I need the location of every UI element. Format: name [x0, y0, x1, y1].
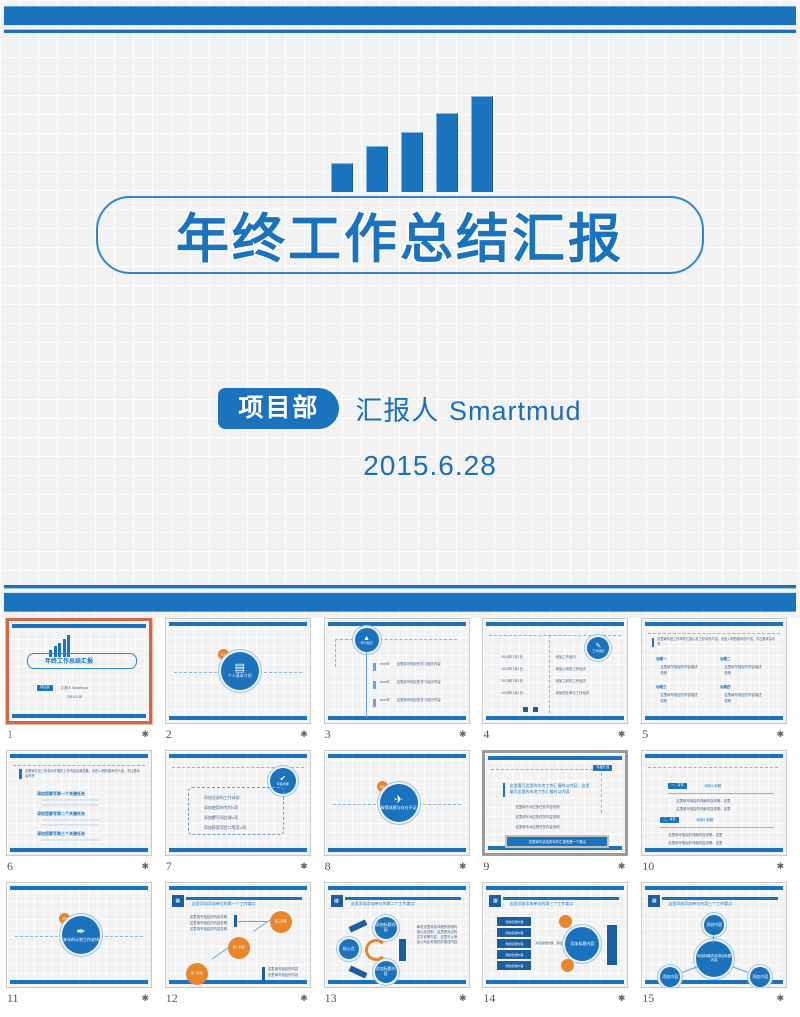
hero-bar-2 — [366, 146, 388, 192]
slide-6-intro-marker — [19, 769, 22, 779]
slide-15-link-top — [713, 935, 714, 943]
slide-thumbnail-11[interactable]: 03 ✒ 来年的计划工作安排 — [6, 882, 152, 988]
slide-thumbnail-15[interactable]: ▦ 这里添加添加单位的第三个工作要点 添加内容 添加标题内容添加标题内容 添加内… — [641, 882, 787, 988]
slide-4-dashline — [489, 635, 621, 636]
timeline-tick-1 — [373, 663, 376, 671]
slide-star-icon[interactable]: ✱ — [141, 730, 149, 739]
hero-top-band — [4, 6, 796, 26]
slide-12-note-4: 这里填写相应的内容 — [268, 967, 299, 972]
slide-number-10: 10 — [642, 859, 654, 874]
slide-4-date-4: 2015年7月1日 — [501, 691, 523, 696]
slide-star-icon[interactable]: ✱ — [459, 862, 467, 871]
slide-star-icon[interactable]: ✱ — [618, 730, 626, 739]
slide-11-circle-label: 来年的计划工作安排 — [63, 938, 99, 943]
thumbnail-cell-14[interactable]: ▦ 这里添加添加单位的第三个工作要点 添加标题内容 添加标题内容 添加标题内容 … — [482, 882, 641, 1006]
slide-bottom-band — [328, 980, 466, 984]
slide-star-icon[interactable]: ✱ — [459, 994, 467, 1003]
presentation-date: 2015.6.28 — [0, 450, 800, 482]
slide-top-band — [488, 756, 622, 760]
slide-9-badge: 年度计划 — [593, 765, 612, 771]
slide-10-line-2a: 这里填写相应的详细内容说明，这里 — [668, 833, 722, 838]
thumbnail-cell-1[interactable]: 年终工作总结汇报 项目部 汇报人 Smartmud 2015.6.28 1 ✱ — [6, 618, 165, 742]
hero-slide[interactable]: 年终工作总结汇报 项目部 汇报人 Smartmud 2015.6.28 — [0, 0, 800, 618]
slide-13-tag-3 — [399, 939, 406, 961]
slide-5-line-2a: 这里填写相应的内容描述 — [724, 665, 761, 670]
slide-5-dashline — [648, 633, 780, 634]
slide-4-text-4: 添加现在单位工作经历 — [555, 691, 589, 696]
slide-14-left-item-1: 添加标题内容 — [497, 917, 531, 926]
slide-8-section-circle: ✈ 取得成绩与存在不足 — [380, 784, 418, 822]
slide-6-sub-2a — [41, 819, 99, 821]
slide-star-icon[interactable]: ✱ — [777, 862, 785, 871]
slide-5-heading-3: 标题三 — [656, 685, 666, 690]
slide-3-text-3: 这里填写相应的学习经历内容 — [397, 698, 441, 703]
slide-thumbnail-7[interactable]: ✔ 年度成果 添加业务的工作体验 添加使用的专利×项 添加撰写同比课×项 添加获… — [165, 750, 311, 856]
slide-15-link-left — [682, 966, 697, 972]
slide-10-line-1b: 这里填写相应的详细内容说明，这里 — [676, 807, 730, 812]
timeline-tick-3 — [373, 699, 376, 707]
slide-3-section-circle: ▲ 学习经历 — [355, 628, 379, 652]
slide-top-band — [328, 886, 466, 890]
slide-12-note-2: 这里填写相应的内容说明 — [190, 921, 227, 926]
slide-13-paragraph: 单击这里添加详细的说明内容以及说明，这里是对应的文字说明内容，这里可以添加公司业… — [417, 925, 461, 945]
hero-bar-3 — [401, 132, 423, 192]
slide-bottom-band — [645, 716, 783, 720]
slide-4-text-1: 添加工作经历 — [555, 655, 575, 660]
slide-12-header: 这里添加添加单位的第一个工作要点 — [192, 901, 256, 907]
slide-6-bullet-3: 添加您要写第三个关键任务 — [37, 831, 85, 837]
slide-14-header-badge: ▦ — [489, 895, 501, 907]
slide-thumbnail-4[interactable]: ✎ 工作经历 2010年7月1日 添加工作经历 2012年7月1日 添加公司的工… — [482, 618, 628, 724]
slide-12-connector-3 — [211, 947, 228, 959]
slide-4-dashline-v — [549, 635, 550, 713]
slide-top-band — [645, 754, 783, 758]
slide-15-header-badge: ▦ — [648, 895, 660, 907]
slide-number-11: 11 — [7, 991, 19, 1006]
slide-number-5: 5 — [642, 727, 648, 742]
slide-star-icon[interactable]: ✱ — [777, 994, 785, 1003]
slide-bottom-band — [169, 716, 307, 720]
slide-9-bullet-3: 这里填写对应的任务内容说明 — [515, 825, 559, 830]
slide-5-heading-2: 标题二 — [720, 657, 730, 662]
slide-6-intro: 这里填写这三年实际开展的工作内容及其成果，也是入职的基本的介绍，不过基本会写完 — [25, 769, 141, 779]
slide-3-year-2: xxxx年 — [380, 680, 390, 685]
slide-star-icon[interactable]: ✱ — [141, 862, 149, 871]
slide-4-circle-label: 工作经历 — [592, 650, 604, 653]
timeline-axis — [366, 652, 367, 718]
slide-15-spoke-top: 添加内容 — [704, 915, 724, 935]
thumbnail-meta-11: 11 ✱ — [6, 988, 152, 1006]
slide-number-7: 7 — [166, 859, 172, 874]
slide-thumbnail-14[interactable]: ▦ 这里添加添加单位的第三个工作要点 添加标题内容 添加标题内容 添加标题内容 … — [482, 882, 628, 988]
slide-4-date-3: 2013年7月1日 — [501, 679, 523, 684]
thumbnail-cell-10[interactable]: 一、存在 添加小标题 这里填写相应的详细内容说明，这里 这里填写相应的详细内容说… — [641, 750, 800, 874]
slide-14-left-item-2: 添加标题内容 — [497, 928, 531, 937]
slide-10-heading-2: 添加小标题 — [696, 818, 713, 823]
thumbnail-row-2: 这里填写这三年实际开展的工作内容及其成果，也是入职的基本的介绍，不过基本会写完 … — [0, 750, 800, 874]
page-title: 年终工作总结汇报 — [0, 196, 800, 274]
slide-9-bullet-2: 这里填写对应的任务内容说明 — [515, 815, 559, 820]
slide-4-date-2: 2012年7月1日 — [501, 667, 523, 672]
thumbnail-meta-4: 4 ✱ — [482, 724, 628, 742]
slide-number-6: 6 — [7, 859, 13, 874]
slide-top-band — [645, 886, 783, 890]
slide-thumbnail-9[interactable]: 年度计划 这里填写这里的年终工作汇报的以内容，这里填写这里的年终工作汇报的以内容… — [482, 750, 628, 856]
slide-3-year-3: xxxx年 — [380, 698, 390, 703]
slide-13-header-badge: ▦ — [331, 895, 343, 907]
slide-3-circle-label: 学习经历 — [361, 642, 373, 645]
hero-bottom-band — [4, 592, 796, 612]
cycle-arrow-icon — [365, 939, 387, 961]
presenter-label: 汇报人 — [355, 396, 439, 427]
slide-13-header: 这里添加添加单位的第二个工作要点 — [351, 901, 415, 907]
slide-bottom-band — [486, 716, 624, 720]
slide-star-icon[interactable]: ✱ — [618, 862, 626, 871]
slide-15-header: 这里添加添加单位的第三个工作要点 — [668, 901, 732, 907]
slide-9-dashline-v — [601, 773, 602, 813]
slide-14-left-item-4: 添加标题内容 — [497, 950, 531, 959]
slide-5-line-4b: 说明 — [724, 699, 731, 704]
slide-6-sub-2b — [41, 824, 99, 826]
slide-5-line-1a: 这里填写相应的内容描述 — [660, 665, 697, 670]
hero-bar-4 — [436, 113, 458, 192]
slide-bottom-band — [328, 716, 466, 720]
slide-15-spoke-left: 添加内容 — [660, 967, 680, 987]
slide-5-line-1b: 说明 — [660, 671, 667, 676]
slide-star-icon[interactable]: ✱ — [300, 730, 308, 739]
slide-number-4: 4 — [483, 727, 489, 742]
slide-bottom-band — [488, 846, 622, 850]
thumbnail-cell-2[interactable]: 01 ▤ 个人基本介绍 2 ✱ — [165, 618, 324, 742]
slide-top-band — [10, 886, 148, 890]
slide-top-band — [645, 622, 783, 626]
slide-top-band — [486, 622, 624, 626]
thumbnail-meta-3: 3 ✱ — [324, 724, 470, 742]
slide-thumbnail-12[interactable]: ▦ 这里添加添加单位的第一个工作要点 这里填写相应的内容说明 这里填写相应的内容… — [165, 882, 311, 988]
slide-7-item-1: 添加业务的工作体验 — [204, 795, 240, 801]
slide-bottom-band — [486, 980, 624, 984]
thumbnail-meta-2: 2 ✱ — [165, 724, 311, 742]
slide-number-13: 13 — [325, 991, 337, 1006]
slide-top-band — [12, 624, 146, 628]
slide-9-dashline — [491, 769, 603, 770]
department-badge: 项目部 — [218, 388, 339, 429]
slide-12-node-2: 第二阶段 — [228, 937, 250, 959]
slide-5-intro: 这里填写进工作年终汇报以及工作情况介绍，也是入职的基本的介绍，不过基本会写完 — [657, 637, 777, 647]
hero-bar-1 — [331, 163, 353, 192]
thumbnail-cell-15[interactable]: ▦ 这里添加添加单位的第三个工作要点 添加内容 添加标题内容添加标题内容 添加内… — [641, 882, 800, 1006]
slide-10-line-2b: 这里填写相应的详细内容说明，这里 — [668, 841, 722, 846]
slide-2-section-circle: ▤ 个人基本介绍 — [221, 652, 259, 690]
slide-10-underline-1 — [668, 793, 774, 794]
slide-15-link-right — [732, 966, 747, 972]
slide-star-icon[interactable]: ✱ — [300, 994, 308, 1003]
slide-5-heading-4: 标题四 — [720, 685, 730, 690]
slide-6-bullet-1: 添加您要写第一个关键任务 — [37, 791, 85, 797]
slide-number-1: 1 — [7, 727, 13, 742]
slide-star-icon[interactable]: ✱ — [300, 862, 308, 871]
slide-15-center-node: 添加标题内容添加标题内容 — [696, 941, 732, 977]
slide-10-line-1a: 这里填写相应的详细内容说明，这里 — [676, 799, 730, 804]
slide-6-sub-3a — [41, 839, 99, 841]
slide-4-text-2: 添加公司的工作经历 — [555, 667, 586, 672]
slide-number-2: 2 — [166, 727, 172, 742]
slide-7-item-3: 添加撰写同比课×项 — [204, 815, 238, 821]
slide-7-item-4: 添加获奖项目二等奖×项 — [204, 825, 246, 831]
slide-10-underline-2 — [660, 827, 774, 828]
slide-12-marker-bottom — [262, 967, 265, 981]
slide-3-year-1: xxxx年 — [380, 662, 390, 667]
slide-1-presenter: 汇报人 Smartmud — [61, 686, 88, 691]
slide-12-node-3: 第三阶段 — [270, 911, 292, 933]
slide-thumbnail-10[interactable]: 一、存在 添加小标题 这里填写相应的详细内容说明，这里 这里填写相应的详细内容说… — [641, 750, 787, 856]
timeline-tick-2 — [373, 681, 376, 689]
presentation-page: 年终工作总结汇报 项目部 汇报人 Smartmud 2015.6.28 年终 — [0, 0, 800, 1017]
slide-top-band — [169, 622, 307, 626]
thumbnail-cell-9[interactable]: 年度计划 这里填写这里的年终工作汇报的以内容，这里填写这里的年终工作汇报的以内容… — [482, 750, 641, 874]
slide-thumbnail-13[interactable]: ▦ 这里添加添加单位的第二个工作要点 添加标题内容 添加标题内容 核心点 单击这… — [324, 882, 470, 988]
slide-15-spoke-right: 添加内容 — [750, 967, 770, 987]
presenter-line: 汇报人 Smartmud — [355, 389, 581, 428]
slide-thumbnail-panel[interactable]: 年终工作总结汇报 项目部 汇报人 Smartmud 2015.6.28 1 ✱ … — [0, 618, 800, 1017]
slide-13-header-bar — [345, 897, 461, 900]
slide-12-header-bar — [186, 897, 302, 900]
slide-4-marker-1 — [523, 707, 528, 712]
slide-14-header-bar — [503, 897, 619, 900]
slide-5-line-4a: 这里填写相应的内容描述 — [724, 693, 761, 698]
slide-13-node-2: 添加标题内容 — [375, 961, 397, 983]
presenter-row: 项目部 汇报人 Smartmud — [0, 388, 800, 429]
slide-14-left-item-5: 添加标题内容 — [497, 961, 531, 970]
slide-11-section-circle: ✒ 来年的计划工作安排 — [62, 916, 100, 954]
slide-6-dashline — [13, 765, 145, 766]
slide-13-tag-1 — [348, 919, 367, 932]
slide-12-note-3: 这里填写相应的内容说明 — [190, 927, 227, 932]
thumbnail-row-3: 03 ✒ 来年的计划工作安排 11 ✱ ▦ 这 — [0, 882, 800, 1006]
slide-star-icon[interactable]: ✱ — [777, 730, 785, 739]
slide-13-tag-2 — [348, 965, 367, 978]
slide-10-heading-1: 添加小标题 — [704, 784, 721, 789]
slide-13-node-1: 添加标题内容 — [375, 917, 397, 939]
slide-number-3: 3 — [325, 727, 331, 742]
slide-14-connector-text: 添加说明内容、添加说明 — [535, 941, 568, 946]
slide-4-text-3: 添加之前的工作经历 — [555, 679, 586, 684]
thumbnail-meta-5: 5 ✱ — [641, 724, 787, 742]
slide-number-12: 12 — [166, 991, 178, 1006]
slide-number-9: 9 — [483, 859, 489, 874]
slide-5-intro-marker — [652, 638, 654, 647]
slide-14-header: 这里添加添加单位的第三个工作要点 — [509, 901, 573, 907]
slide-12-header-badge: ▦ — [172, 895, 184, 907]
slide-bottom-band — [645, 848, 783, 852]
slide-thumbnail-5[interactable]: 这里填写进工作年终汇报以及工作情况介绍，也是入职的基本的介绍，不过基本会写完 标… — [641, 618, 787, 724]
hero-bar-chart — [331, 96, 517, 192]
slide-bottom-band — [328, 848, 466, 852]
thumbnail-meta-10: 10 ✱ — [641, 856, 787, 874]
slide-12-node-1: 第一阶段 — [186, 963, 208, 985]
slide-1-title: 年终工作总结汇报 — [45, 658, 93, 667]
slide-bottom-band — [12, 714, 146, 718]
slide-bottom-band — [10, 980, 148, 984]
slide-9-banner: 这里填写总结的年终汇报的第一个要点 — [507, 837, 607, 846]
thumbnail-meta-9: 9 ✱ — [482, 856, 628, 874]
thumbnail-meta-14: 14 ✱ — [482, 988, 628, 1006]
thumbnail-cell-13[interactable]: ▦ 这里添加添加单位的第二个工作要点 添加标题内容 添加标题内容 核心点 单击这… — [324, 882, 483, 1006]
slide-5-line-3a: 这里填写相应的内容描述 — [660, 693, 697, 698]
slide-top-band — [328, 754, 466, 758]
slide-12-marker-top — [234, 915, 237, 927]
slide-15-header-bar — [662, 897, 778, 900]
slide-9-bullet-1: 这里填写对应的任务内容说明 — [515, 805, 559, 810]
slide-thumbnail-6[interactable]: 这里填写这三年实际开展的工作内容及其成果，也是入职的基本的介绍，不过基本会写完 … — [6, 750, 152, 856]
slide-10-tab-2: 二、存在 — [660, 817, 679, 823]
thumbnail-meta-1: 1 ✱ — [6, 724, 152, 742]
thumbnail-meta-8: 8 ✱ — [324, 856, 470, 874]
thumbnail-cell-5[interactable]: 这里填写进工作年终汇报以及工作情况介绍，也是入职的基本的介绍，不过基本会写完 标… — [641, 618, 800, 742]
slide-star-icon[interactable]: ✱ — [618, 994, 626, 1003]
slide-12-connector-1 — [238, 921, 268, 922]
slide-12-note-5: 这里填写相应的内容 — [268, 973, 299, 978]
thumbnail-meta-12: 12 ✱ — [165, 988, 311, 1006]
slide-number-8: 8 — [325, 859, 331, 874]
hero-bottom-rule — [4, 585, 796, 589]
slide-5-line-2b: 说明 — [724, 671, 731, 676]
slide-6-sub-1a — [41, 799, 99, 801]
slide-4-marker-2 — [533, 707, 538, 712]
slide-number-14: 14 — [483, 991, 495, 1006]
thumbnail-meta-6: 6 ✱ — [6, 856, 152, 874]
slide-4-section-circle: ✎ 工作经历 — [587, 637, 609, 659]
slide-3-text-1: 这里填写相应的学习经历内容 — [397, 662, 441, 667]
slide-thumbnail-3[interactable]: ▲ 学习经历 xxxx年 这里填写相应的学习经历内容 xxxx年 这里填写相应的… — [324, 618, 470, 724]
thumbnail-cell-6[interactable]: 这里填写这三年实际开展的工作内容及其成果，也是入职的基本的介绍，不过基本会写完 … — [6, 750, 165, 874]
slide-14-left-item-3: 添加标题内容 — [497, 939, 531, 948]
thumbnail-cell-7[interactable]: ✔ 年度成果 添加业务的工作体验 添加使用的专利×项 添加撰写同比课×项 添加获… — [165, 750, 324, 874]
thumbnail-meta-15: 15 ✱ — [641, 988, 787, 1006]
slide-star-icon[interactable]: ✱ — [141, 994, 149, 1003]
slide-number-15: 15 — [642, 991, 654, 1006]
thumbnail-meta-13: 13 ✱ — [324, 988, 470, 1006]
thumbnail-cell-4[interactable]: ✎ 工作经历 2010年7月1日 添加工作经历 2012年7月1日 添加公司的工… — [482, 618, 641, 742]
slide-9-paragraph: 这里填写这里的年终工作汇报的以内容，这里填写这里的年终工作汇报的以内容 — [509, 783, 589, 795]
slide-top-band — [328, 622, 466, 626]
slide-5-line-3b: 说明 — [660, 699, 667, 704]
slide-8-circle-label: 取得成绩与存在不足 — [381, 806, 417, 811]
hero-bar-5 — [471, 96, 493, 192]
hero-top-rule — [4, 29, 796, 33]
slide-14-right-panel — [607, 925, 617, 965]
slide-2-circle-label: 个人基本介绍 — [228, 674, 252, 679]
slide-14-accent-bottom — [561, 959, 574, 972]
slide-bottom-band — [169, 848, 307, 852]
slide-6-bullet-2: 添加您要写第二个关键任务 — [37, 811, 85, 817]
slide-4-date-1: 2010年7月1日 — [501, 655, 523, 660]
slide-14-accent-top — [559, 915, 572, 928]
thumbnail-cell-8[interactable]: 02 ✈ 取得成绩与存在不足 8 ✱ — [324, 750, 483, 874]
timeline-dashline — [335, 639, 457, 640]
timeline-dashline-left — [335, 639, 336, 667]
slide-bottom-band — [10, 848, 148, 852]
slide-top-band — [486, 886, 624, 890]
slide-7-item-2: 添加使用的专利×项 — [204, 805, 238, 811]
slide-12-note-1: 这里填写相应的内容说明 — [190, 915, 227, 920]
slide-14-center-node: 添加标题内容 — [565, 927, 599, 961]
thumbnail-row-1: 年终工作总结汇报 项目部 汇报人 Smartmud 2015.6.28 1 ✱ … — [0, 618, 800, 742]
slide-5-heading-1: 标题一 — [656, 657, 666, 662]
slide-3-text-2: 这里填写相应的学习经历内容 — [397, 680, 441, 685]
slide-1-badge: 项目部 — [37, 685, 53, 691]
presenter-name: Smartmud — [449, 396, 582, 426]
slide-1-date: 2015.6.28 — [67, 695, 82, 700]
thumbnail-cell-3[interactable]: ▲ 学习经历 xxxx年 这里填写相应的学习经历内容 xxxx年 这里填写相应的… — [324, 618, 483, 742]
slide-6-sub-1b — [41, 804, 99, 806]
slide-top-band — [10, 754, 148, 758]
thumbnail-cell-11[interactable]: 03 ✒ 来年的计划工作安排 11 ✱ — [6, 882, 165, 1006]
slide-10-dashline — [648, 767, 778, 768]
thumbnail-meta-7: 7 ✱ — [165, 856, 311, 874]
slide-top-band — [169, 754, 307, 758]
slide-thumbnail-1[interactable]: 年终工作总结汇报 项目部 汇报人 Smartmud 2015.6.28 — [6, 618, 152, 724]
slide-thumbnail-8[interactable]: 02 ✈ 取得成绩与存在不足 — [324, 750, 470, 856]
slide-thumbnail-2[interactable]: 01 ▤ 个人基本介绍 — [165, 618, 311, 724]
thumbnail-cell-12[interactable]: ▦ 这里添加添加单位的第一个工作要点 这里填写相应的内容说明 这里填写相应的内容… — [165, 882, 324, 1006]
slide-9-para-marker — [503, 783, 505, 797]
slide-star-icon[interactable]: ✱ — [459, 730, 467, 739]
slide-10-tab-1: 一、存在 — [668, 783, 687, 789]
slide-top-band — [169, 886, 307, 890]
slide-13-node-3: 核心点 — [339, 939, 359, 959]
